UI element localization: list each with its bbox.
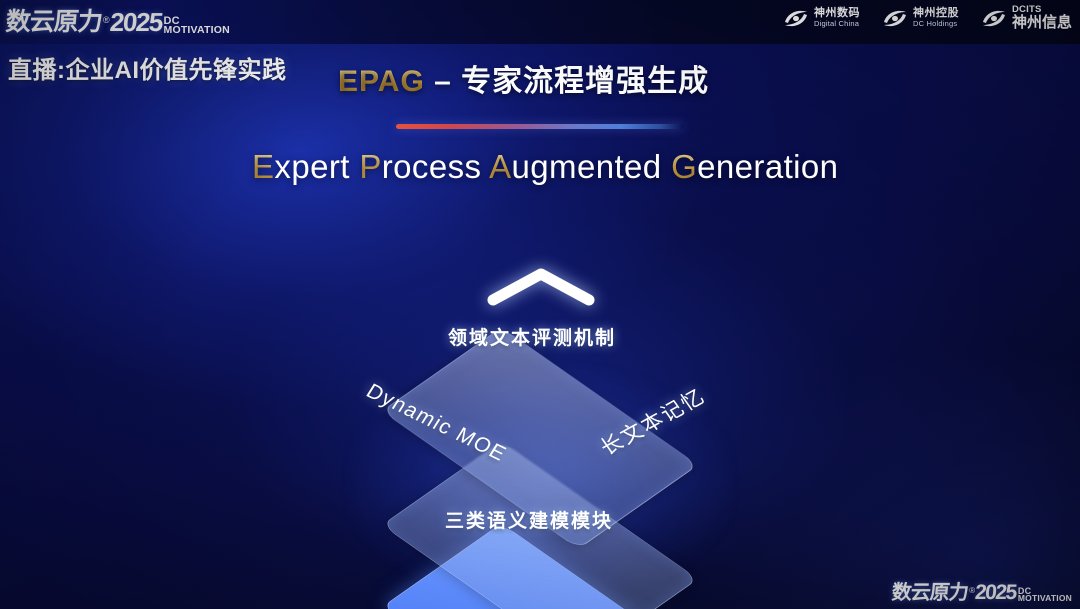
partner-name-cn: 神州控股 bbox=[913, 8, 959, 20]
stack-layer-top[interactable] bbox=[290, 218, 790, 508]
slide-canvas: 数云原力 ® 2025 DC MOTIVATION 神州数码 Digital C… bbox=[0, 0, 1080, 609]
watermark-chinese: 数云原力 bbox=[891, 576, 970, 605]
subtitle-rest-process: rocess bbox=[382, 148, 489, 185]
partner-name-en: Digital China bbox=[814, 20, 860, 28]
watermark-logo: 数云原力 ® 2025 DC MOTIVATION bbox=[892, 576, 1072, 605]
layer-stack-diagram: 领域文本评测机制 Dynamic MOE 长文本记忆 三类语义建模模块 bbox=[290, 218, 790, 588]
brand-logo-year: 2025 bbox=[108, 7, 163, 38]
subtitle-cap-a: A bbox=[489, 148, 511, 185]
title-separator: – bbox=[425, 65, 461, 98]
title-acronym: EPAG bbox=[338, 65, 425, 98]
page-subtitle: Expert Process Augmented Generation bbox=[252, 148, 838, 186]
partner-name-en: DC Holdings bbox=[913, 20, 959, 28]
watermark-year: 2025 bbox=[974, 581, 1017, 605]
subtitle-rest-expert: xpert bbox=[274, 148, 359, 185]
partner-logo-text: 神州控股 DC Holdings bbox=[913, 8, 959, 27]
live-broadcast-label: 直播:企业AI价值先锋实践 bbox=[8, 50, 287, 85]
subtitle-cap-g: G bbox=[671, 148, 697, 185]
swirl-logo-icon bbox=[783, 7, 809, 29]
watermark-dc-motivation: DC MOTIVATION bbox=[1018, 587, 1072, 603]
partner-name-cn: 神州信息 bbox=[1012, 15, 1072, 31]
partner-logo-digital-china: 神州数码 Digital China bbox=[783, 7, 860, 29]
partner-logos: 神州数码 Digital China 神州控股 DC Holdings bbox=[783, 5, 1072, 31]
partner-logo-dc-holdings: 神州控股 DC Holdings bbox=[882, 7, 959, 29]
subtitle-cap-e: E bbox=[252, 148, 274, 185]
partner-logo-text: 神州数码 Digital China bbox=[814, 8, 860, 27]
partner-logo-dcits: DCITS 神州信息 bbox=[981, 5, 1072, 31]
watermark-dc-line2: MOTIVATION bbox=[1018, 595, 1072, 603]
partner-name-cn: 神州数码 bbox=[814, 8, 860, 20]
subtitle-rest-generation: eneration bbox=[697, 148, 838, 185]
brand-logo-dc-line2: MOTIVATION bbox=[164, 26, 230, 36]
subtitle-rest-augmented: ugmented bbox=[512, 148, 672, 185]
swirl-logo-icon bbox=[882, 7, 908, 29]
layer-label-top: 领域文本评测机制 bbox=[448, 323, 616, 350]
brand-logo-chinese: 数云原力 bbox=[4, 2, 103, 38]
swirl-logo-icon bbox=[981, 7, 1007, 29]
gradient-divider bbox=[396, 124, 684, 129]
brand-logo: 数云原力 ® 2025 DC MOTIVATION bbox=[6, 2, 230, 38]
chevron-up-icon bbox=[485, 266, 597, 308]
page-title: EPAG – 专家流程增强生成 bbox=[338, 56, 709, 100]
title-chinese: 专家流程增强生成 bbox=[461, 65, 709, 98]
brand-logo-dc-motivation: DC MOTIVATION bbox=[164, 16, 230, 36]
partner-logo-text: DCITS 神州信息 bbox=[1012, 5, 1072, 31]
layer-label-bottom: 三类语义建模模块 bbox=[445, 506, 613, 533]
brand-logo-registered-mark: ® bbox=[103, 15, 110, 25]
subtitle-cap-p: P bbox=[359, 148, 381, 185]
